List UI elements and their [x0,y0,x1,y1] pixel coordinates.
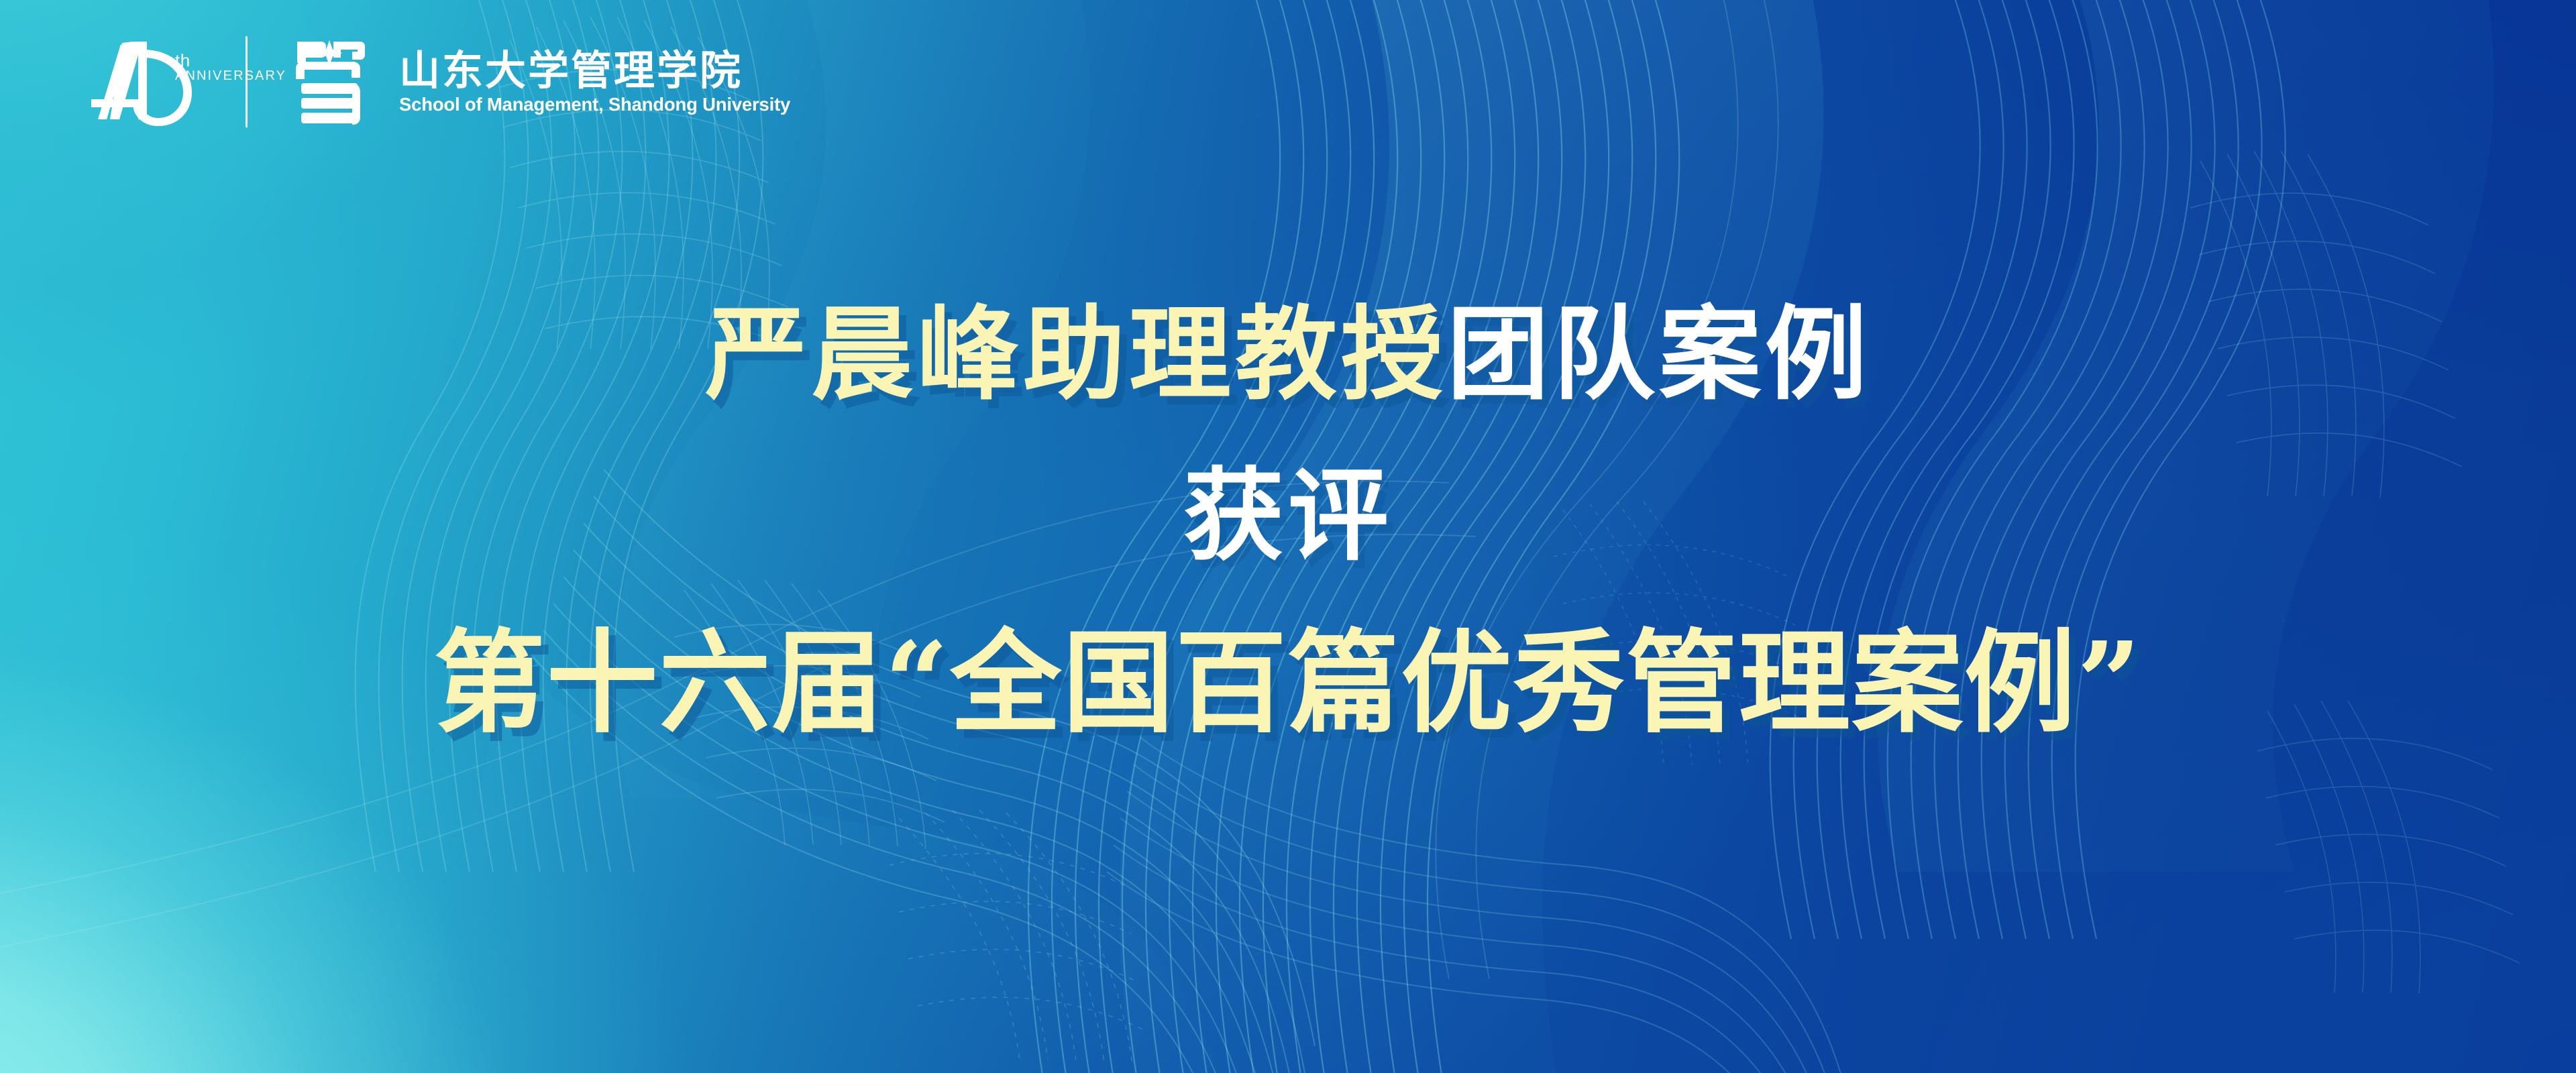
headline-line-1-segment-1: 严晨峰助理教授 [705,294,1447,414]
school-name-block: 山东大学管理学院 School of Management, Shandong … [399,50,790,114]
headline-line-3: 第十六届“全国百篇优秀管理案例” [0,628,2576,739]
headline-line-1: 严晨峰助理教授团队案例 [0,303,2576,405]
anniversary-logo: th ANNIVERSARY [79,35,217,129]
headline-line-2-segment-1: 获评 [1183,457,1393,575]
headline-line-2: 获评 [0,465,2576,566]
school-name-en: School of Management, Shandong Universit… [399,95,790,114]
anniversary-ordinal: th [175,52,191,69]
school-name-cn: 山东大学管理学院 [399,50,790,91]
anniversary-word: ANNIVERSARY [175,69,286,82]
logo-divider [246,36,248,127]
headline-block: 严晨峰助理教授团队案例 获评 第十六届“全国百篇优秀管理案例” [0,303,2576,739]
headline-line-1-segment-2: 团队案例 [1447,294,1871,414]
school-emblem-icon [277,31,379,133]
headline-line-3-segment-1: 第十六届“全国百篇优秀管理案例” [434,618,2143,748]
logo-lockup: th ANNIVERSARY 山东大学管理学院 School of Manage… [79,31,790,133]
announcement-banner: th ANNIVERSARY 山东大学管理学院 School of Manage… [0,0,2576,1073]
